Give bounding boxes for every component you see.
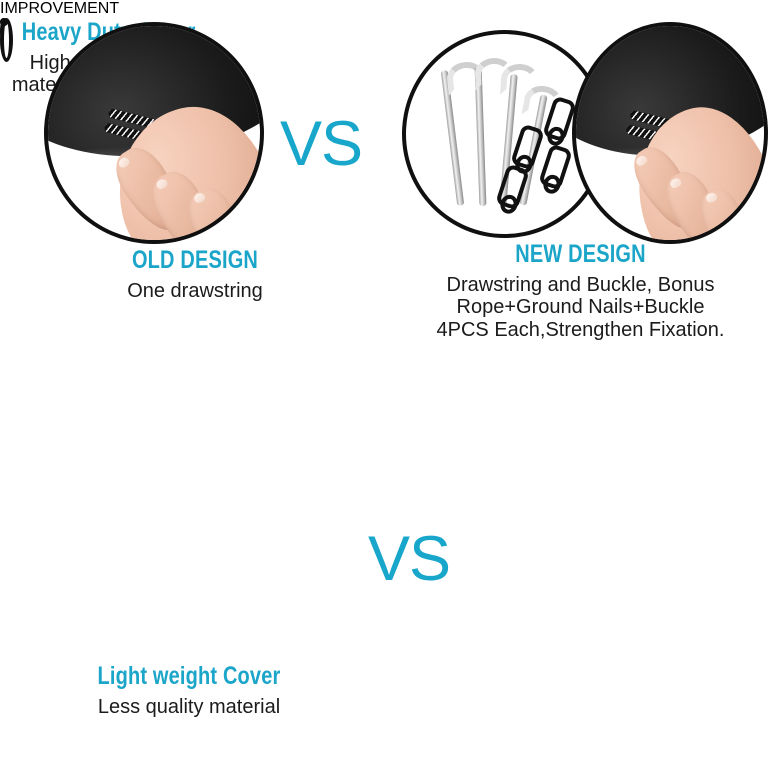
fingernail xyxy=(704,193,717,205)
old-design-photo xyxy=(44,22,264,244)
top-comparison-section: VS OLD DESIGN One drawstring NEW DESIGN … xyxy=(0,0,771,350)
buckle-clip-3 xyxy=(538,143,573,190)
buckle-clip-2 xyxy=(510,123,545,170)
new-design-title: NEW DESIGN xyxy=(428,240,733,269)
fingernail xyxy=(117,156,131,169)
old-design-subtitle: One drawstring xyxy=(0,280,390,302)
light-weight-title: Light weight Cover xyxy=(38,662,340,691)
light-weight-caption: Light weight Cover Less quality material xyxy=(0,662,378,718)
vs-label-bottom: VS xyxy=(368,528,450,591)
fingernail xyxy=(634,154,648,167)
new-design-caption: NEW DESIGN Drawstring and Buckle, Bonus … xyxy=(390,240,771,341)
infographic-page: VS OLD DESIGN One drawstring NEW DESIGN … xyxy=(0,0,771,771)
fingernail xyxy=(193,193,206,205)
new-design-subtitle: Drawstring and Buckle, Bonus Rope+Ground… xyxy=(390,274,771,341)
fingernail xyxy=(154,177,168,190)
fingernail xyxy=(669,176,683,189)
old-design-caption: OLD DESIGN One drawstring xyxy=(0,246,390,302)
vs-label-top: VS xyxy=(280,113,362,176)
light-weight-subtitle: Less quality material xyxy=(0,696,378,718)
new-design-photo xyxy=(572,22,768,244)
old-design-title: OLD DESIGN xyxy=(39,246,351,275)
